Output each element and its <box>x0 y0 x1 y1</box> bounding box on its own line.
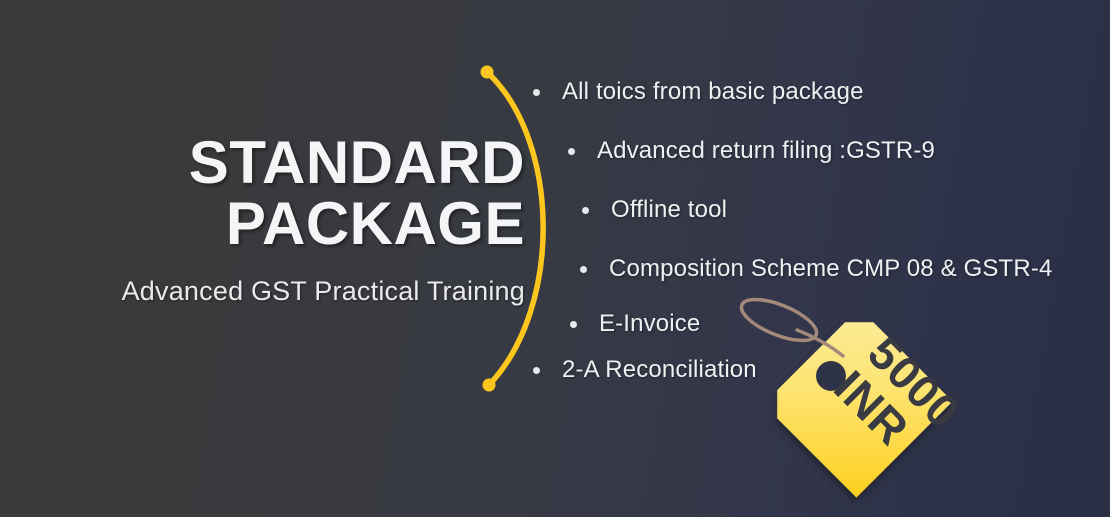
list-item: Advanced return filing :GSTR-9 <box>568 136 935 166</box>
bullet-point-icon <box>533 367 540 374</box>
tag-string-icon <box>736 291 821 349</box>
bullet-point-icon <box>570 321 577 328</box>
bullet-point-icon <box>580 266 587 273</box>
bullet-point-icon <box>568 148 575 155</box>
feature-label: All toics from basic package <box>562 78 864 106</box>
slide-canvas: STANDARD PACKAGE Advanced GST Practical … <box>0 0 1110 517</box>
list-item: Offline tool <box>582 195 727 225</box>
list-item: All toics from basic package <box>533 77 864 107</box>
feature-label: E-Invoice <box>599 310 700 338</box>
feature-label: Composition Scheme CMP 08 & GSTR-4 <box>609 255 1053 283</box>
bullet-point-icon <box>582 207 589 214</box>
feature-label: 2-A Reconciliation <box>562 356 757 384</box>
bullet-point-icon <box>533 89 540 96</box>
list-item: 2-A Reconciliation <box>533 355 757 385</box>
feature-label: Advanced return filing :GSTR-9 <box>597 137 935 165</box>
list-item: E-Invoice <box>570 309 700 339</box>
feature-label: Offline tool <box>611 196 727 224</box>
price-tag: 5000 INR <box>735 280 1025 517</box>
